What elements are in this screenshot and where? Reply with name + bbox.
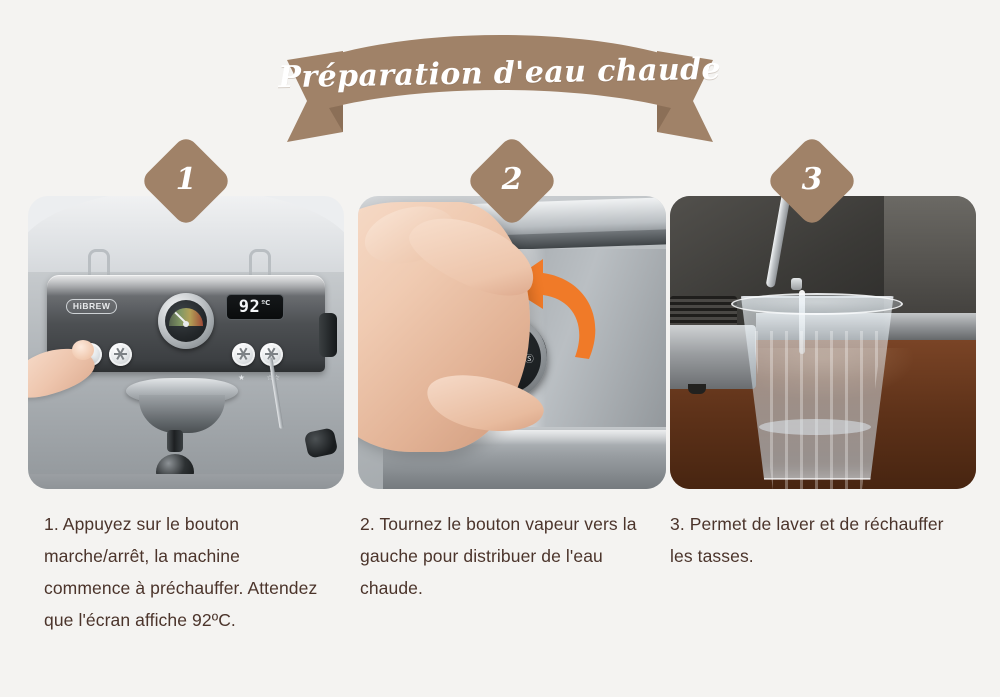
gauge-hub — [183, 321, 189, 327]
step-badge-number: 1 — [153, 148, 219, 214]
display-value: 92 — [239, 299, 260, 316]
side-steam-knob[interactable] — [319, 313, 337, 357]
fingertip — [72, 340, 94, 360]
gauge-face — [165, 300, 207, 342]
machine-foot — [688, 384, 706, 394]
steam-wand-tip — [791, 278, 802, 290]
pressure-gauge — [158, 293, 214, 349]
display-unit: ºC — [261, 299, 270, 307]
drip-tray — [28, 474, 344, 489]
step-panel-2: + ✻ ♨ Ⓢ 2 — [358, 196, 666, 489]
step-panel-3: 3 — [670, 196, 976, 489]
step-badge-3: 3 — [765, 134, 858, 227]
step-badge-number: 2 — [479, 148, 545, 214]
fan-button[interactable] — [109, 343, 132, 366]
photo-step-3 — [670, 196, 976, 489]
banner: Préparation d'eau chaude — [285, 34, 715, 146]
glass-rim — [731, 293, 903, 315]
step-panel-1: HiBREW 92 ºC ★ ☆☆ — [28, 196, 344, 489]
caption-step-2: 2. Tournez le bouton vapeur vers la gauc… — [360, 508, 655, 604]
machine-base — [670, 325, 756, 389]
step-badge-1: 1 — [139, 134, 232, 227]
caption-step-1: 1. Appuyez sur le bouton marche/arrêt, l… — [44, 508, 324, 636]
page-title: Préparation d'eau chaude — [284, 30, 716, 150]
step-badge-number: 3 — [779, 148, 845, 214]
glass-base — [759, 419, 871, 435]
brand-logo: HiBREW — [66, 299, 117, 314]
photo-step-1: HiBREW 92 ºC ★ ☆☆ — [28, 196, 344, 489]
portafilter-stem — [167, 430, 183, 452]
step-badge-2: 2 — [465, 134, 558, 227]
caption-step-3: 3. Permet de laver et de réchauffer les … — [670, 508, 960, 572]
photo-step-2: + ✻ ♨ Ⓢ — [358, 196, 666, 489]
single-cup-button[interactable] — [232, 343, 255, 366]
temperature-display: 92 ºC — [226, 294, 284, 320]
single-cup-icon: ★ — [238, 373, 245, 382]
